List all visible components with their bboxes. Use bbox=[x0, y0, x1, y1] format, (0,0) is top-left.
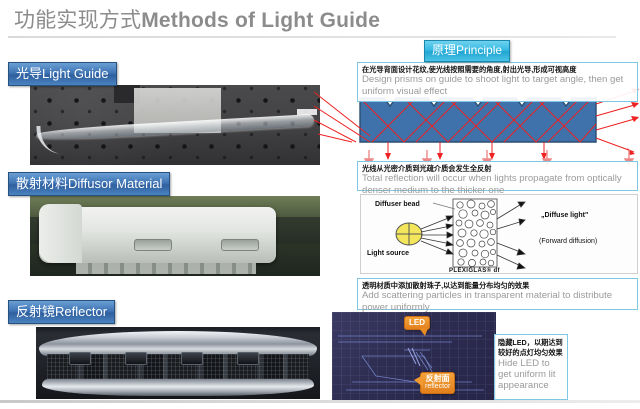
tag-diffusor-cn: 散射材料 bbox=[16, 176, 68, 191]
tag-principle-cn: 原理 bbox=[432, 43, 456, 57]
incoming-rays bbox=[421, 216, 453, 254]
page-title: 功能实现方式Methods of Light Guide bbox=[14, 4, 380, 34]
led-module bbox=[181, 352, 203, 365]
title-divider bbox=[8, 36, 616, 38]
tag-reflector-en: Reflector bbox=[55, 304, 107, 319]
photo-diffusor-material bbox=[30, 196, 320, 276]
tag-diffusor-material[interactable]: 散射材料Diffusor Material bbox=[8, 172, 170, 196]
label-light-source: Light source bbox=[367, 250, 409, 257]
callout-led[interactable]: LED bbox=[404, 316, 430, 330]
slide-canvas: 功能实现方式Methods of Light Guide 光导Light Gui… bbox=[0, 0, 640, 409]
label-diffuse-light: „Diffuse light" bbox=[541, 212, 588, 219]
label-plexiglas: PLEXIGLAS® df bbox=[449, 268, 500, 274]
callout-reflector-cn: 反射面 bbox=[425, 375, 450, 383]
reflector-chrome-lower bbox=[42, 379, 315, 396]
textbox-light-guide-principle: 在光导背面设计花纹,使光线按照需要的角度,射出光导,形成可视高度 Design … bbox=[357, 62, 638, 102]
reflector-cavity bbox=[47, 353, 308, 382]
tag-diffusor-en: Diffusor Material bbox=[68, 176, 162, 191]
page-title-cn: 功能实现方式 bbox=[14, 9, 141, 32]
diffuser-bead-svg: Diffuser bead Light source „Diffuse ligh… bbox=[361, 195, 637, 273]
cad-lamp-section-panel: LED 反射面 reflector bbox=[332, 312, 496, 400]
textbox-hide-led: 隐藏LED，以期达到较好的点灯均匀效果 Hide LED to get unif… bbox=[494, 334, 568, 400]
textbox-2-cn: 光线从光密介质到光疏介质会发生全反射 bbox=[362, 164, 633, 173]
label-diffuser-bead: Diffuser bead bbox=[375, 201, 420, 208]
diffusor-part-arm bbox=[39, 204, 83, 263]
led-module bbox=[69, 352, 91, 365]
textbox-scattering: 透明材质中添加散射珠子,以达到能量分布均匀的效果 Add scattering … bbox=[357, 278, 638, 310]
textbox-3-en: Add scattering particles in transparent … bbox=[362, 290, 633, 313]
page-title-en: Methods of Light Guide bbox=[141, 9, 380, 32]
diffusor-clip-right bbox=[221, 239, 259, 251]
tag-light-guide[interactable]: 光导Light Guide bbox=[8, 62, 117, 86]
tag-reflector-cn: 反射镜 bbox=[16, 304, 55, 319]
tag-light-guide-cn: 光导 bbox=[16, 66, 42, 81]
label-forward-diffusion: (Forward diffusion) bbox=[539, 238, 597, 245]
callout-reflector-surface[interactable]: 反射面 reflector bbox=[420, 372, 455, 394]
led-module bbox=[125, 352, 147, 365]
led-module bbox=[237, 352, 259, 365]
photo-light-guide bbox=[30, 85, 320, 165]
tag-light-guide-en: Light Guide bbox=[42, 66, 109, 81]
textbox-4-en: Hide LED to get uniform lit appearance bbox=[498, 358, 564, 391]
tag-reflector[interactable]: 反射镜Reflector bbox=[8, 300, 115, 324]
diffusor-clip-left bbox=[134, 239, 172, 251]
callout-led-pointer bbox=[419, 328, 428, 336]
tag-principle[interactable]: 原理Principle bbox=[424, 40, 510, 62]
tag-principle-en: Principle bbox=[456, 43, 502, 57]
footer-band bbox=[0, 403, 640, 409]
photo-reflector bbox=[36, 327, 320, 399]
diffusor-part-base bbox=[76, 263, 256, 274]
light-guide-bar bbox=[360, 98, 596, 142]
diffuser-bead-diagram: Diffuser bead Light source „Diffuse ligh… bbox=[360, 194, 638, 274]
callout-reflector-pointer bbox=[414, 375, 423, 387]
textbox-2-en: Total reflection will occur when lights … bbox=[362, 173, 633, 196]
callout-led-label: LED bbox=[409, 319, 425, 327]
textbox-1-en: Design prisms on guide to shoot light to… bbox=[362, 74, 633, 97]
textbox-4-cn: 隐藏LED，以期达到较好的点灯均匀效果 bbox=[498, 338, 564, 358]
scattered-rays bbox=[497, 202, 525, 269]
textbox-total-reflection: 光线从光密介质到光疏介质会发生全反射 Total reflection will… bbox=[357, 161, 638, 191]
textbox-1-cn: 在光导背面设计花纹,使光线按照需要的角度,射出光导,形成可视高度 bbox=[362, 65, 633, 74]
callout-reflector-en: reflector bbox=[425, 383, 450, 390]
textbox-3-cn: 透明材质中添加散射珠子,以达到能量分布均匀的效果 bbox=[362, 281, 633, 290]
